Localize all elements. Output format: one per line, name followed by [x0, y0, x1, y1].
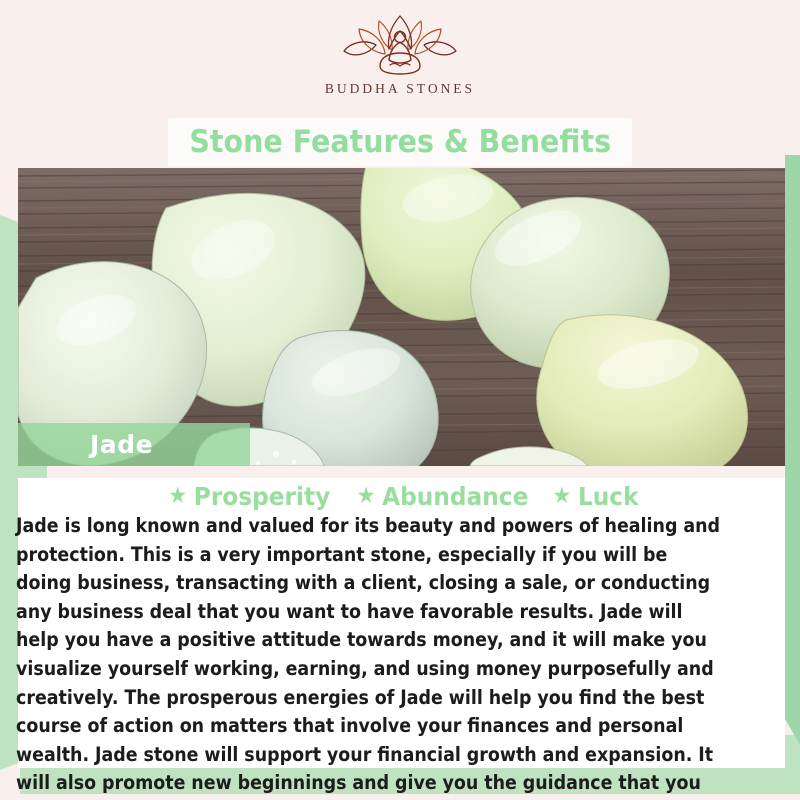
star-icon: ★	[168, 485, 187, 508]
benefit-label: Prosperity	[193, 484, 329, 509]
benefit-item-2: ★ Luck	[552, 484, 638, 509]
benefit-label: Luck	[578, 484, 639, 509]
benefit-label: Abundance	[382, 484, 528, 509]
brand-header: BUDDHA STONES	[0, 14, 800, 110]
brand-name: BUDDHA STONES	[325, 81, 475, 97]
infographic-card: BUDDHA STONES Stone Features & Benefits	[0, 0, 800, 800]
benefit-item-1: ★ Abundance	[356, 484, 528, 509]
benefits-row: ★ Prosperity ★ Abundance ★ Luck	[18, 480, 785, 512]
benefit-item-0: ★ Prosperity	[168, 484, 330, 509]
stone-name: Jade	[90, 432, 153, 457]
page-title: Stone Features & Benefits	[189, 127, 611, 158]
stone-name-band: Jade	[18, 423, 250, 466]
stone-photo	[18, 168, 785, 466]
star-icon: ★	[552, 485, 571, 508]
stone-description: Jade is long known and valued for its be…	[16, 512, 720, 800]
lotus-meditation-icon	[338, 14, 462, 76]
decorative-green-bar-right	[785, 155, 800, 745]
section-title-band: Stone Features & Benefits	[168, 118, 632, 166]
star-icon: ★	[356, 485, 375, 508]
